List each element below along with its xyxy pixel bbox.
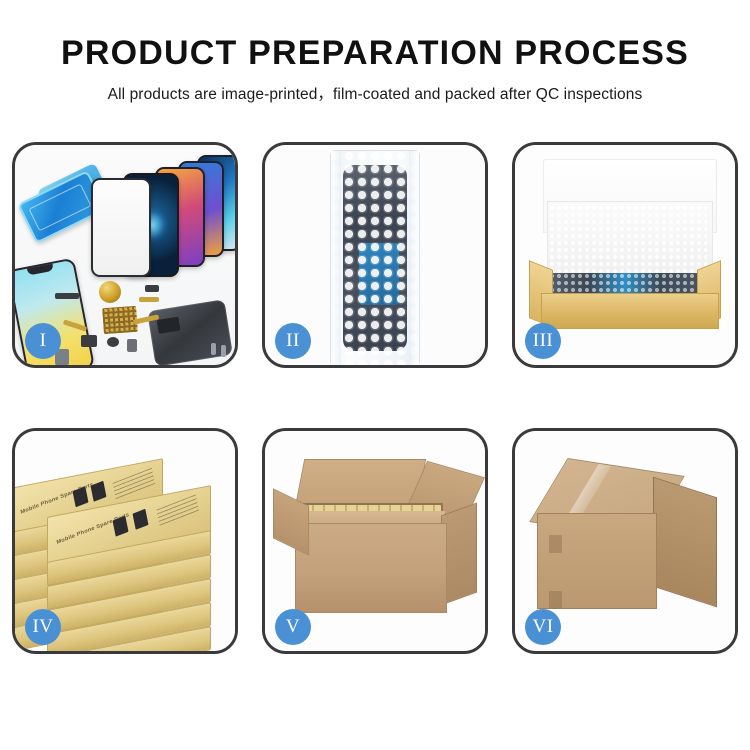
- box-art-screen-1b: [90, 481, 106, 502]
- bag-seal-right: [409, 151, 419, 365]
- process-step-1: I: [12, 142, 238, 368]
- step-badge-3: III: [525, 323, 561, 359]
- step-badge-1: I: [25, 323, 61, 359]
- carton-front-panel: [295, 523, 447, 613]
- process-step-5: V: [262, 428, 488, 654]
- step-badge-6: VI: [525, 609, 561, 645]
- process-step-2: II: [262, 142, 488, 368]
- screw-1: [211, 343, 216, 355]
- box-art-screen-2b: [132, 509, 148, 530]
- process-step-6: VI: [512, 428, 738, 654]
- page-title: PRODUCT PREPARATION PROCESS: [0, 0, 750, 72]
- step-1-image: I: [15, 145, 235, 365]
- screw-2: [221, 345, 226, 357]
- bubble-bag-wrapper: [331, 151, 419, 365]
- step-5-image: V: [265, 431, 485, 651]
- step-badge-2: II: [275, 323, 311, 359]
- bubble-wrap-bag: [331, 151, 419, 365]
- sealed-carton-side: [653, 477, 717, 608]
- flex-cable-1: [139, 297, 159, 302]
- carton-hand-hole-bottom: [549, 591, 562, 609]
- step-badge-4: IV: [25, 609, 61, 645]
- step-badge-5: V: [275, 609, 311, 645]
- earpiece-component: [55, 293, 79, 299]
- step-6-image: VI: [515, 431, 735, 651]
- phone-screen-1: [91, 178, 151, 277]
- page-subtitle: All products are image-printed，film-coat…: [0, 72, 750, 104]
- step-2-image: II: [265, 145, 485, 365]
- process-step-3: III: [512, 142, 738, 368]
- box-spec-lines-2: [156, 494, 199, 528]
- process-step-grid: I II: [12, 142, 738, 680]
- small-chip-1: [145, 285, 159, 292]
- header: PRODUCT PREPARATION PROCESS All products…: [0, 0, 750, 104]
- step-4-image: Mobile Phone Spare Parts Mobile Phone Sp…: [15, 431, 235, 651]
- box-art-screen-1a: [72, 486, 88, 507]
- product-preparation-infographic: PRODUCT PREPARATION PROCESS All products…: [0, 0, 750, 750]
- small-chip-3: [127, 339, 137, 352]
- process-step-4: Mobile Phone Spare Parts Mobile Phone Sp…: [12, 428, 238, 654]
- small-chip-2: [81, 335, 97, 347]
- vibrator-motor: [107, 337, 119, 347]
- inner-box-front-wall: [541, 293, 719, 329]
- bubble-texture: [331, 151, 419, 365]
- step-3-image: III: [515, 145, 735, 365]
- box-art-screen-2a: [112, 516, 128, 537]
- carton-hand-hole-top: [549, 535, 562, 553]
- foam-lining: [549, 205, 707, 277]
- bag-seal-left: [331, 151, 341, 365]
- speaker-component-icon: [99, 281, 121, 303]
